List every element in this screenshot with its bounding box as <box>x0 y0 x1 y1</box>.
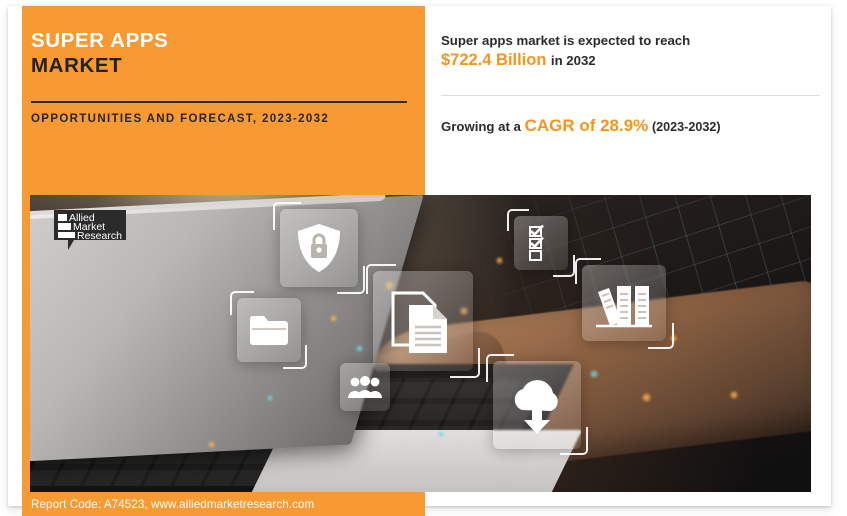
cagr-value: CAGR of 28.9% <box>525 116 649 135</box>
cagr-years: (2023-2032) <box>652 120 721 134</box>
cagr-prefix: Growing at a <box>441 119 521 134</box>
bokeh-dot <box>356 345 363 352</box>
books-archive-icon <box>582 265 666 341</box>
checklist-icon <box>514 216 568 270</box>
cloud-download-icon <box>493 361 581 449</box>
hero-photo: Allied Market Research <box>30 195 811 492</box>
market-value-prefix: Super apps market is expected to reach <box>441 30 821 51</box>
folder-icon <box>237 298 301 362</box>
bokeh-dot <box>267 395 273 401</box>
market-value-figure: $722.4 Billion <box>441 51 546 69</box>
allied-market-research-logo: Allied Market Research <box>52 209 138 253</box>
bokeh-dot <box>730 391 738 399</box>
bokeh-dot <box>330 315 337 322</box>
bokeh-dot <box>590 370 598 378</box>
stats-divider <box>441 95 820 96</box>
cagr-stat: Growing at a CAGR of 28.9% (2023-2032) <box>441 116 823 136</box>
report-code: Report Code: A74523, www.alliedmarketres… <box>31 498 314 511</box>
shield-lock-icon <box>280 209 358 287</box>
market-value-line: $722.4 Billion in 2032 <box>441 51 821 70</box>
people-icon <box>340 363 390 411</box>
bokeh-dot <box>438 431 444 437</box>
page-subtitle: OPPORTUNITIES AND FORECAST, 2023-2032 <box>31 111 411 128</box>
infographic-canvas: SUPER APPS MARKET OPPORTUNITIES AND FORE… <box>0 0 847 516</box>
title-divider <box>31 101 407 103</box>
market-value-suffix: in 2032 <box>551 53 596 68</box>
page-title-primary: SUPER APPS <box>31 28 416 53</box>
market-value-stat: Super apps market is expected to reach $… <box>441 30 821 70</box>
title-block: SUPER APPS MARKET <box>31 28 416 78</box>
bokeh-dot <box>642 393 651 402</box>
bokeh-dot <box>496 257 503 264</box>
document-icon <box>373 271 473 371</box>
page-title-secondary: MARKET <box>31 53 416 78</box>
bokeh-dot <box>208 441 215 448</box>
logo-line-3: Research <box>77 230 122 242</box>
